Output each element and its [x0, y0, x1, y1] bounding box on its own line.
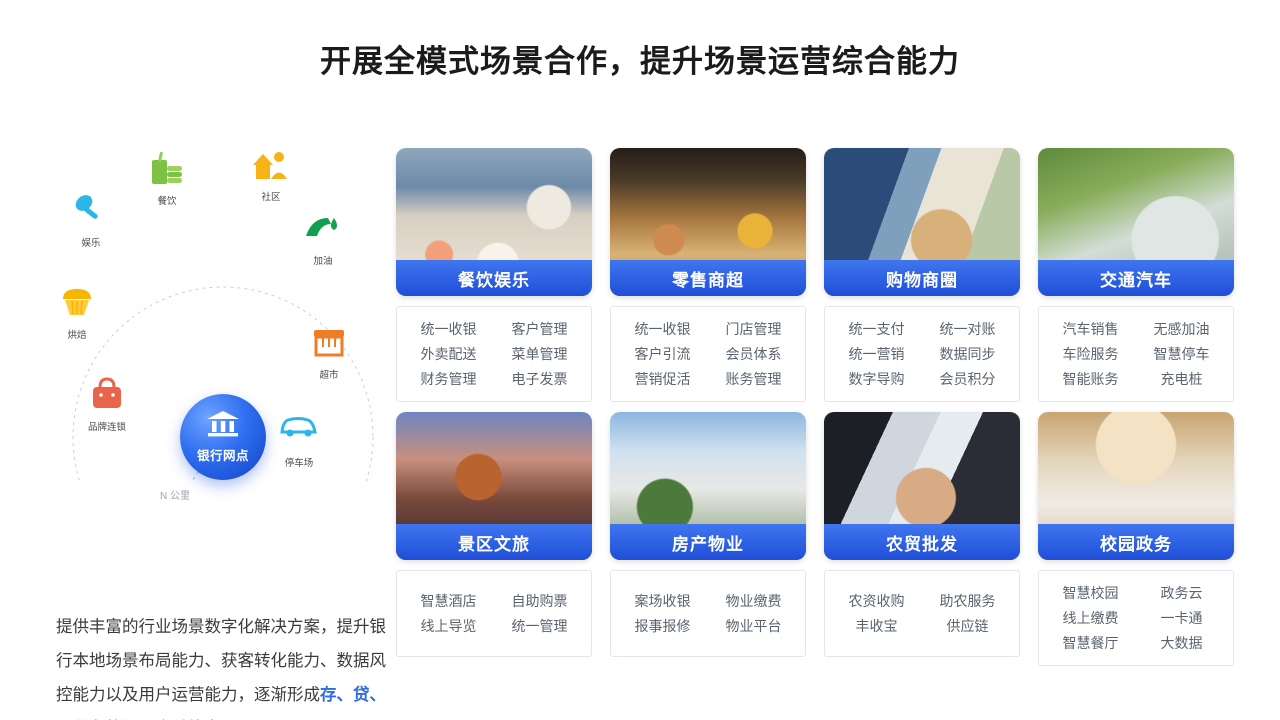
- scenario-tag-box: 统一支付统一对账统一营销数据同步数字导购会员积分: [824, 306, 1020, 402]
- scenario-tag[interactable]: 营销促活: [635, 369, 691, 389]
- diagram-node-label: 娱乐: [52, 235, 130, 249]
- scenario-card[interactable]: 餐饮娱乐: [396, 148, 592, 296]
- scenario-card[interactable]: 交通汽车: [1038, 148, 1234, 296]
- scenario-card-title: 房产物业: [610, 524, 806, 560]
- diagram-node-label: 餐饮: [128, 193, 206, 207]
- scenario-tag[interactable]: 报事报修: [635, 616, 691, 636]
- community-icon: [232, 146, 310, 188]
- scenario-tag-box: 智慧酒店自助购票线上导览统一管理: [396, 570, 592, 657]
- scenario-card-title: 农贸批发: [824, 524, 1020, 560]
- scenario-card-title: 景区文旅: [396, 524, 592, 560]
- scenario-tag[interactable]: 智慧餐厅: [1063, 633, 1119, 653]
- scenario-tag[interactable]: 会员积分: [940, 369, 996, 389]
- scenario-tag[interactable]: 统一对账: [940, 319, 996, 339]
- cupcake-icon: [38, 284, 116, 326]
- scenario-card-cell: 交通汽车汽车销售无感加油车险服务智慧停车智能账务充电桩: [1038, 148, 1234, 402]
- scenario-card[interactable]: 景区文旅: [396, 412, 592, 560]
- scenario-card[interactable]: 购物商圈: [824, 148, 1020, 296]
- scenario-tag[interactable]: 客户引流: [635, 344, 691, 364]
- scenario-tag-box: 农资收购助农服务丰收宝供应链: [824, 570, 1020, 657]
- bank-icon: [205, 410, 241, 443]
- diagram-node-shequ[interactable]: 社区: [232, 146, 310, 203]
- ecosystem-diagram: 餐饮 社区: [20, 132, 380, 482]
- scenario-card-cell: 零售商超统一收银门店管理客户引流会员体系营销促活账务管理: [610, 148, 806, 402]
- scenario-tag-box: 汽车销售无感加油车险服务智慧停车智能账务充电桩: [1038, 306, 1234, 402]
- scenario-tag[interactable]: 物业缴费: [726, 591, 782, 611]
- microphone-icon: [52, 192, 130, 234]
- scenario-tag[interactable]: 统一营销: [849, 344, 905, 364]
- diagram-node-jiayou[interactable]: 加油: [284, 210, 362, 267]
- scenario-tag[interactable]: 统一收银: [421, 319, 477, 339]
- scenario-tag[interactable]: 数据同步: [940, 344, 996, 364]
- scenario-tag[interactable]: 一卡通: [1161, 608, 1203, 628]
- diagram-node-pinpailianosuo[interactable]: 品牌连锁: [68, 376, 146, 433]
- scenario-card[interactable]: 校园政务: [1038, 412, 1234, 560]
- scenario-card[interactable]: 零售商超: [610, 148, 806, 296]
- scenario-card[interactable]: 房产物业: [610, 412, 806, 560]
- description-text: 提供丰富的行业场景数字化解决方案，提升银行本地场景布局能力、获客转化能力、数据风…: [56, 610, 386, 720]
- scenario-tag-box: 统一收银客户管理外卖配送菜单管理财务管理电子发票: [396, 306, 592, 402]
- scenario-card-title: 校园政务: [1038, 524, 1234, 560]
- scenario-tag[interactable]: 车险服务: [1063, 344, 1119, 364]
- scenario-tag[interactable]: 供应链: [947, 616, 989, 636]
- scenario-tag-box: 案场收银物业缴费报事报修物业平台: [610, 570, 806, 657]
- diagram-node-tingchechang[interactable]: 停车场: [260, 412, 338, 469]
- scenario-tag[interactable]: 客户管理: [512, 319, 568, 339]
- drink-burger-icon: [128, 150, 206, 192]
- diagram-node-chaoshi[interactable]: 超市: [290, 324, 368, 381]
- slide-root: 开展全模式场景合作，提升场景运营综合能力: [0, 0, 1280, 720]
- diagram-node-yule[interactable]: 娱乐: [52, 192, 130, 249]
- scenario-tag[interactable]: 农资收购: [849, 591, 905, 611]
- scenario-card-cell: 餐饮娱乐统一收银客户管理外卖配送菜单管理财务管理电子发票: [396, 148, 592, 402]
- scenario-tag[interactable]: 账务管理: [726, 369, 782, 389]
- scenario-tag[interactable]: 大数据: [1161, 633, 1203, 653]
- diagram-node-label: 加油: [284, 253, 362, 267]
- scenario-tag[interactable]: 统一支付: [849, 319, 905, 339]
- scenario-card-title: 餐饮娱乐: [396, 260, 592, 296]
- hub-label: 银行网点: [197, 445, 249, 464]
- scenario-tag[interactable]: 门店管理: [726, 319, 782, 339]
- scenario-card-title: 购物商圈: [824, 260, 1020, 296]
- scenario-card-title: 交通汽车: [1038, 260, 1234, 296]
- diagram-node-label: 停车场: [260, 455, 338, 469]
- scenario-card-cell: 农贸批发农资收购助农服务丰收宝供应链: [824, 412, 1020, 666]
- car-icon: [260, 412, 338, 454]
- diagram-node-hongbei[interactable]: 烘焙: [38, 284, 116, 341]
- scenario-tag-box: 统一收银门店管理客户引流会员体系营销促活账务管理: [610, 306, 806, 402]
- scenario-tag[interactable]: 线上缴费: [1063, 608, 1119, 628]
- distance-label: N 公里: [160, 487, 190, 502]
- scenario-tag[interactable]: 统一管理: [512, 616, 568, 636]
- diagram-node-label: 超市: [290, 367, 368, 381]
- scenario-tag[interactable]: 外卖配送: [421, 344, 477, 364]
- scenario-tag[interactable]: 助农服务: [940, 591, 996, 611]
- store-icon: [290, 324, 368, 366]
- scenario-tag[interactable]: 菜单管理: [512, 344, 568, 364]
- scenario-tag[interactable]: 智能账务: [1063, 369, 1119, 389]
- scenario-card-cell: 校园政务智慧校园政务云线上缴费一卡通智慧餐厅大数据: [1038, 412, 1234, 666]
- scenario-card-cell: 景区文旅智慧酒店自助购票线上导览统一管理: [396, 412, 592, 666]
- left-panel: 餐饮 社区: [20, 132, 390, 692]
- scenario-tag[interactable]: 丰收宝: [856, 616, 898, 636]
- scenario-tag[interactable]: 汽车销售: [1063, 319, 1119, 339]
- scenario-card-grid: 餐饮娱乐统一收银客户管理外卖配送菜单管理财务管理电子发票零售商超统一收银门店管理…: [396, 148, 1236, 666]
- diagram-node-label: 品牌连锁: [68, 419, 146, 433]
- fuel-icon: [284, 210, 362, 252]
- diagram-node-label: 社区: [232, 189, 310, 203]
- scenario-tag[interactable]: 电子发票: [512, 369, 568, 389]
- hub-bank-branch[interactable]: 银行网点: [180, 394, 266, 480]
- scenario-tag[interactable]: 统一收银: [635, 319, 691, 339]
- scenario-tag[interactable]: 会员体系: [726, 344, 782, 364]
- scenario-tag[interactable]: 物业平台: [726, 616, 782, 636]
- scenario-tag-box: 智慧校园政务云线上缴费一卡通智慧餐厅大数据: [1038, 570, 1234, 666]
- scenario-card-cell: 房产物业案场收银物业缴费报事报修物业平台: [610, 412, 806, 666]
- scenario-tag[interactable]: 智慧校园: [1063, 583, 1119, 603]
- scenario-tag[interactable]: 智慧停车: [1154, 344, 1210, 364]
- scenario-card-title: 零售商超: [610, 260, 806, 296]
- page-title: 开展全模式场景合作，提升场景运营综合能力: [0, 36, 1280, 81]
- scenario-card[interactable]: 农贸批发: [824, 412, 1020, 560]
- scenario-tag[interactable]: 数字导购: [849, 369, 905, 389]
- diagram-node-label: 烘焙: [38, 327, 116, 341]
- scenario-tag[interactable]: 充电桩: [1161, 369, 1203, 389]
- scenario-tag[interactable]: 线上导览: [421, 616, 477, 636]
- scenario-card-cell: 购物商圈统一支付统一对账统一营销数据同步数字导购会员积分: [824, 148, 1020, 402]
- scenario-tag[interactable]: 案场收银: [635, 591, 691, 611]
- scenario-tag[interactable]: 财务管理: [421, 369, 477, 389]
- diagram-node-canyin[interactable]: 餐饮: [128, 150, 206, 207]
- scenario-tag[interactable]: 政务云: [1161, 583, 1203, 603]
- handbag-icon: [68, 376, 146, 418]
- scenario-tag[interactable]: 自助购票: [512, 591, 568, 611]
- scenario-tag[interactable]: 无感加油: [1154, 319, 1210, 339]
- scenario-tag[interactable]: 智慧酒店: [421, 591, 477, 611]
